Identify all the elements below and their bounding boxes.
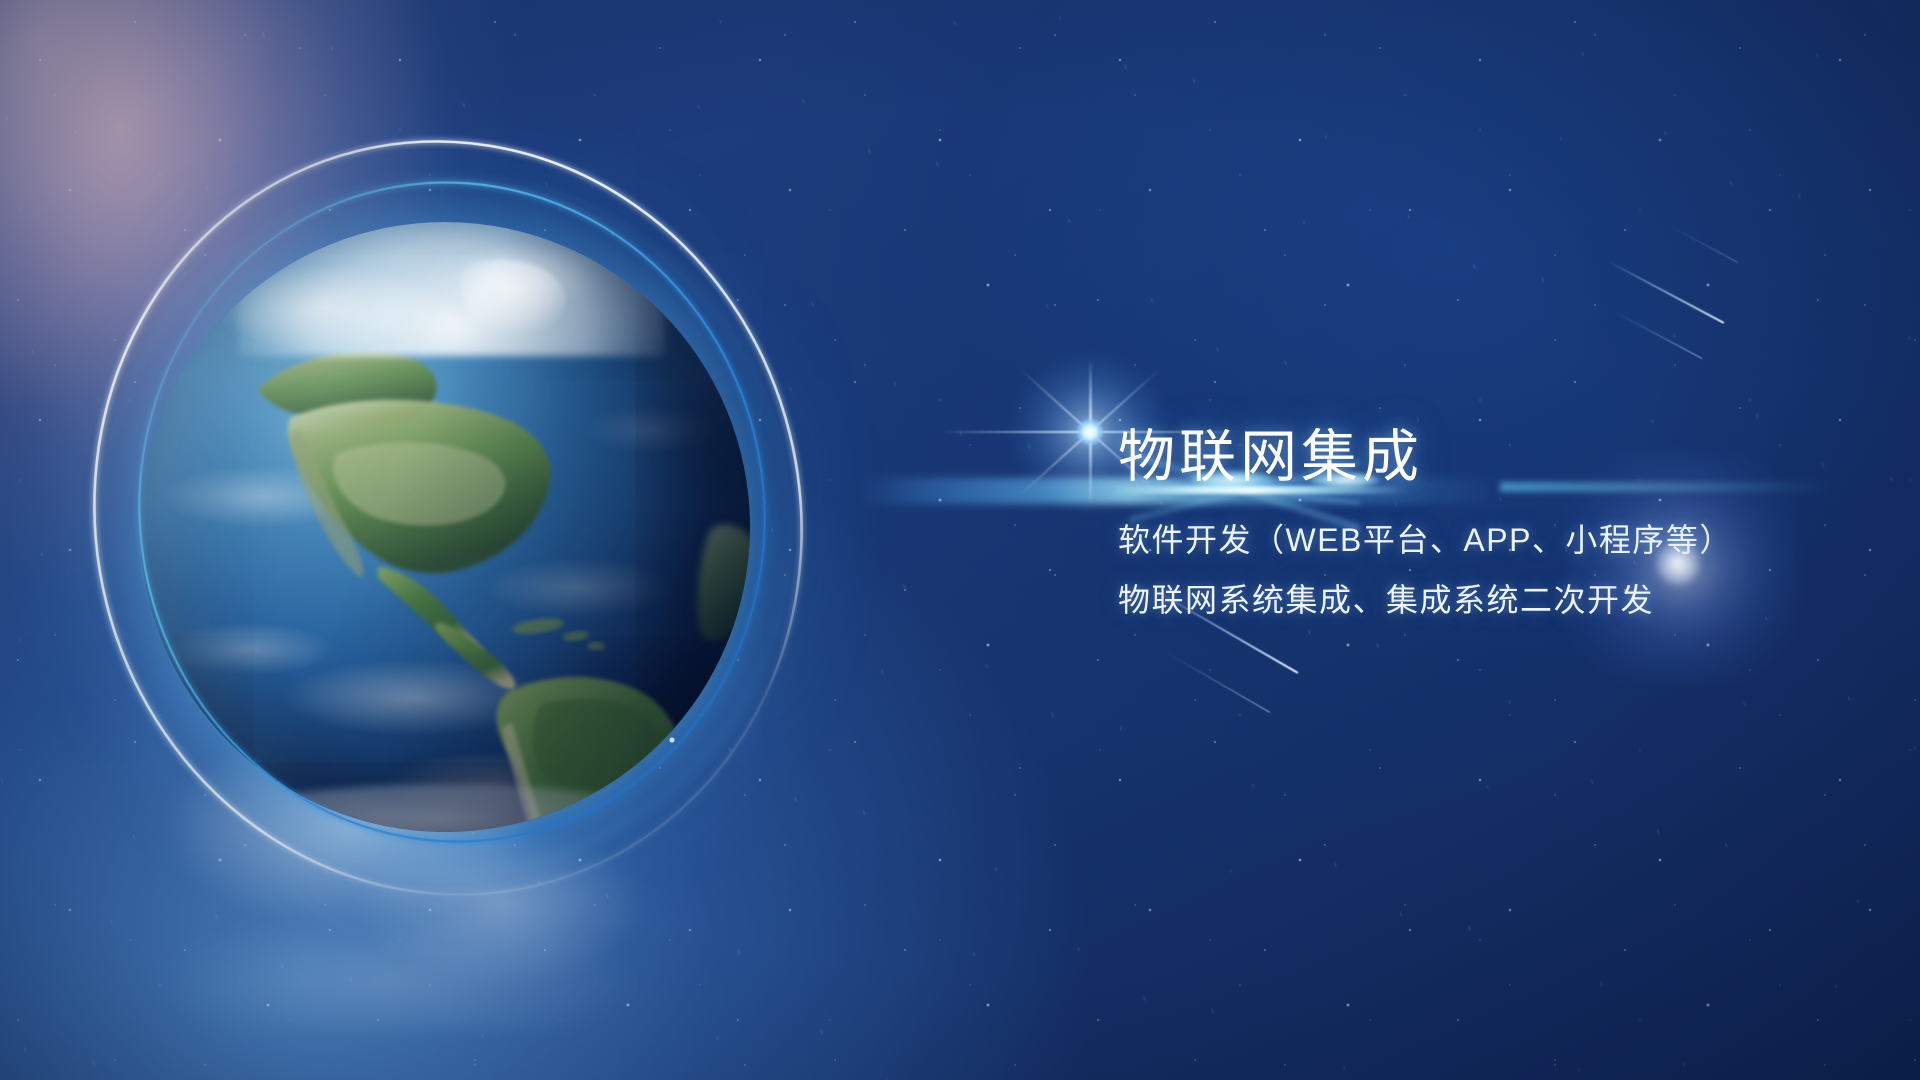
orbital-ring-outer [15, 66, 881, 970]
hero-text-block: 物联网集成 软件开发（WEB平台、APP、小程序等） 物联网系统集成、集成系统二… [1118, 418, 1818, 628]
hero-banner: 物联网集成 软件开发（WEB平台、APP、小程序等） 物联网系统集成、集成系统二… [0, 0, 1920, 1080]
hero-subtitle-line-2: 物联网系统集成、集成系统二次开发 [1118, 572, 1818, 628]
hero-subtitle-line-1: 软件开发（WEB平台、APP、小程序等） [1118, 512, 1818, 568]
page-title: 物联网集成 [1118, 418, 1818, 496]
orbital-ring-inner [87, 133, 816, 891]
orbit-node [669, 737, 674, 742]
